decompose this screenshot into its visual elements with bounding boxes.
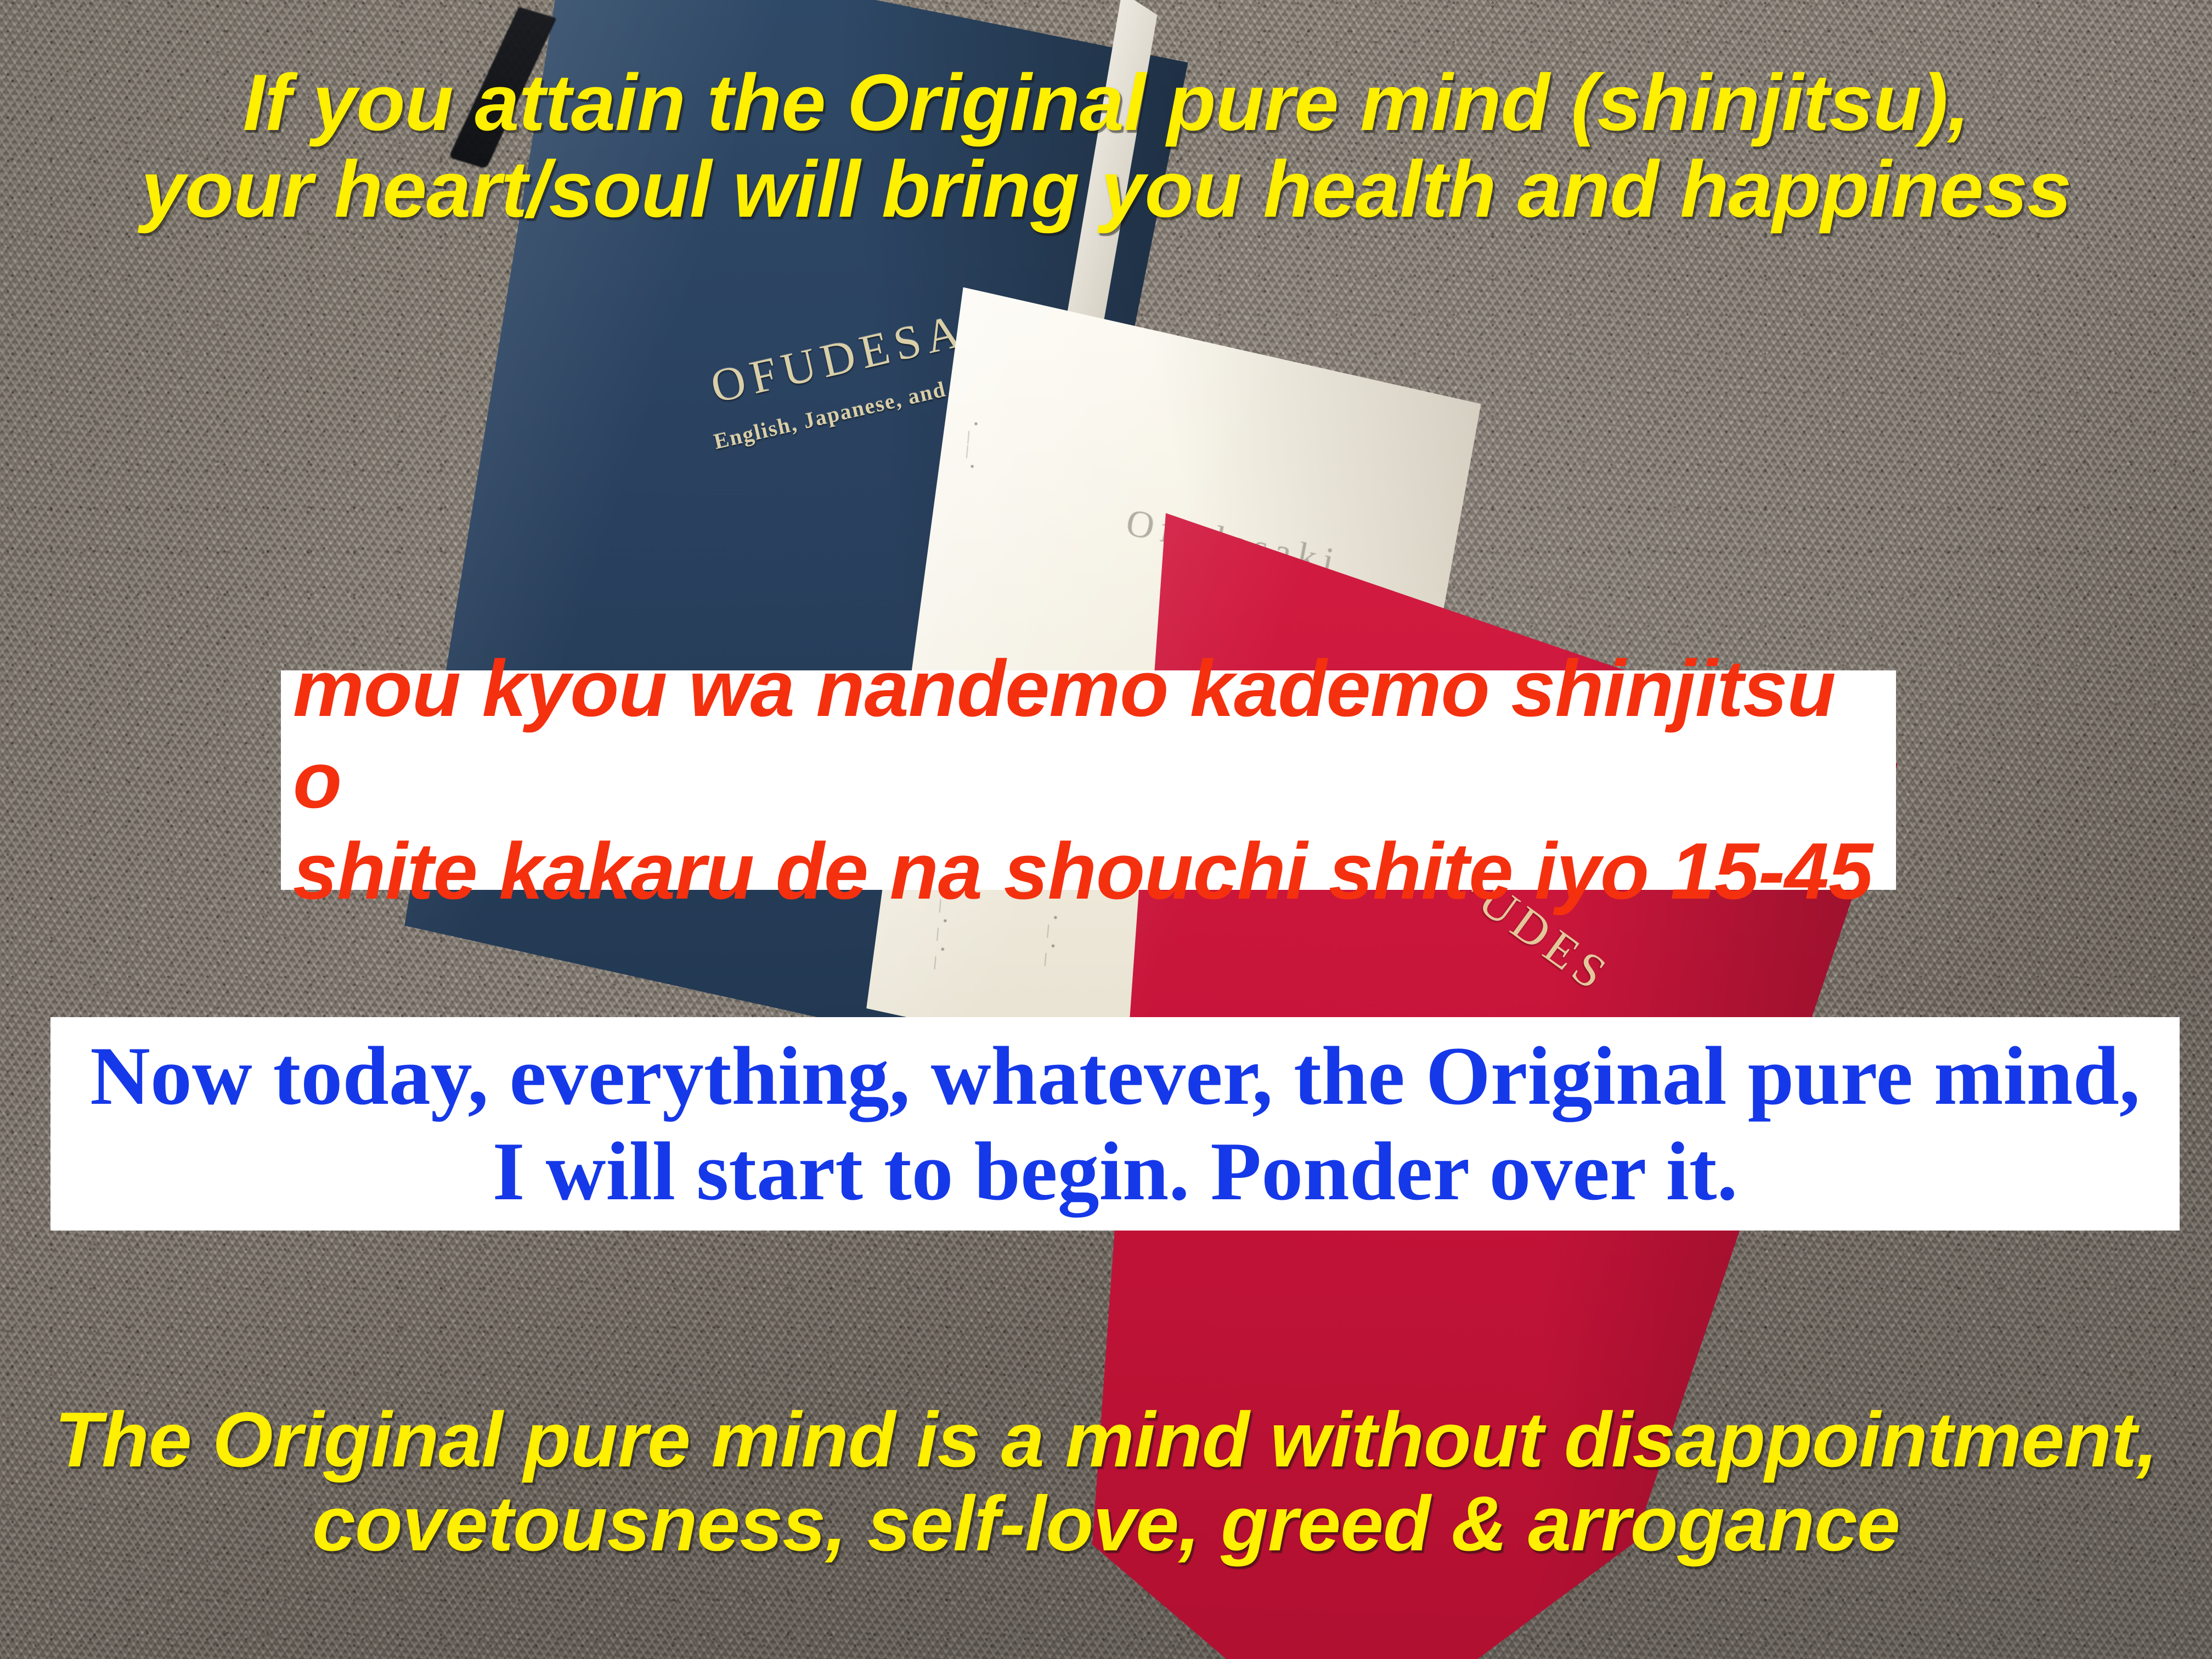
- translation-line-2: I will start to begin. Ponder over it.: [50, 1124, 2180, 1219]
- translation-line-1: Now today, everything, whatever, the Ori…: [50, 1029, 2180, 1124]
- romaji-line-1: mou kyou wa nandemo kademo shinjitsu o: [281, 643, 1896, 826]
- romaji-line-2: shite kakaru de na shouchi shite iyo 15-…: [281, 826, 1896, 917]
- romaji-panel: mou kyou wa nandemo kademo shinjitsu o s…: [281, 670, 1896, 890]
- slide-image: OFUDESAKI English, Japanese, and Rom ・＿＿…: [0, 0, 2212, 1659]
- translation-panel: Now today, everything, whatever, the Ori…: [50, 1017, 2180, 1231]
